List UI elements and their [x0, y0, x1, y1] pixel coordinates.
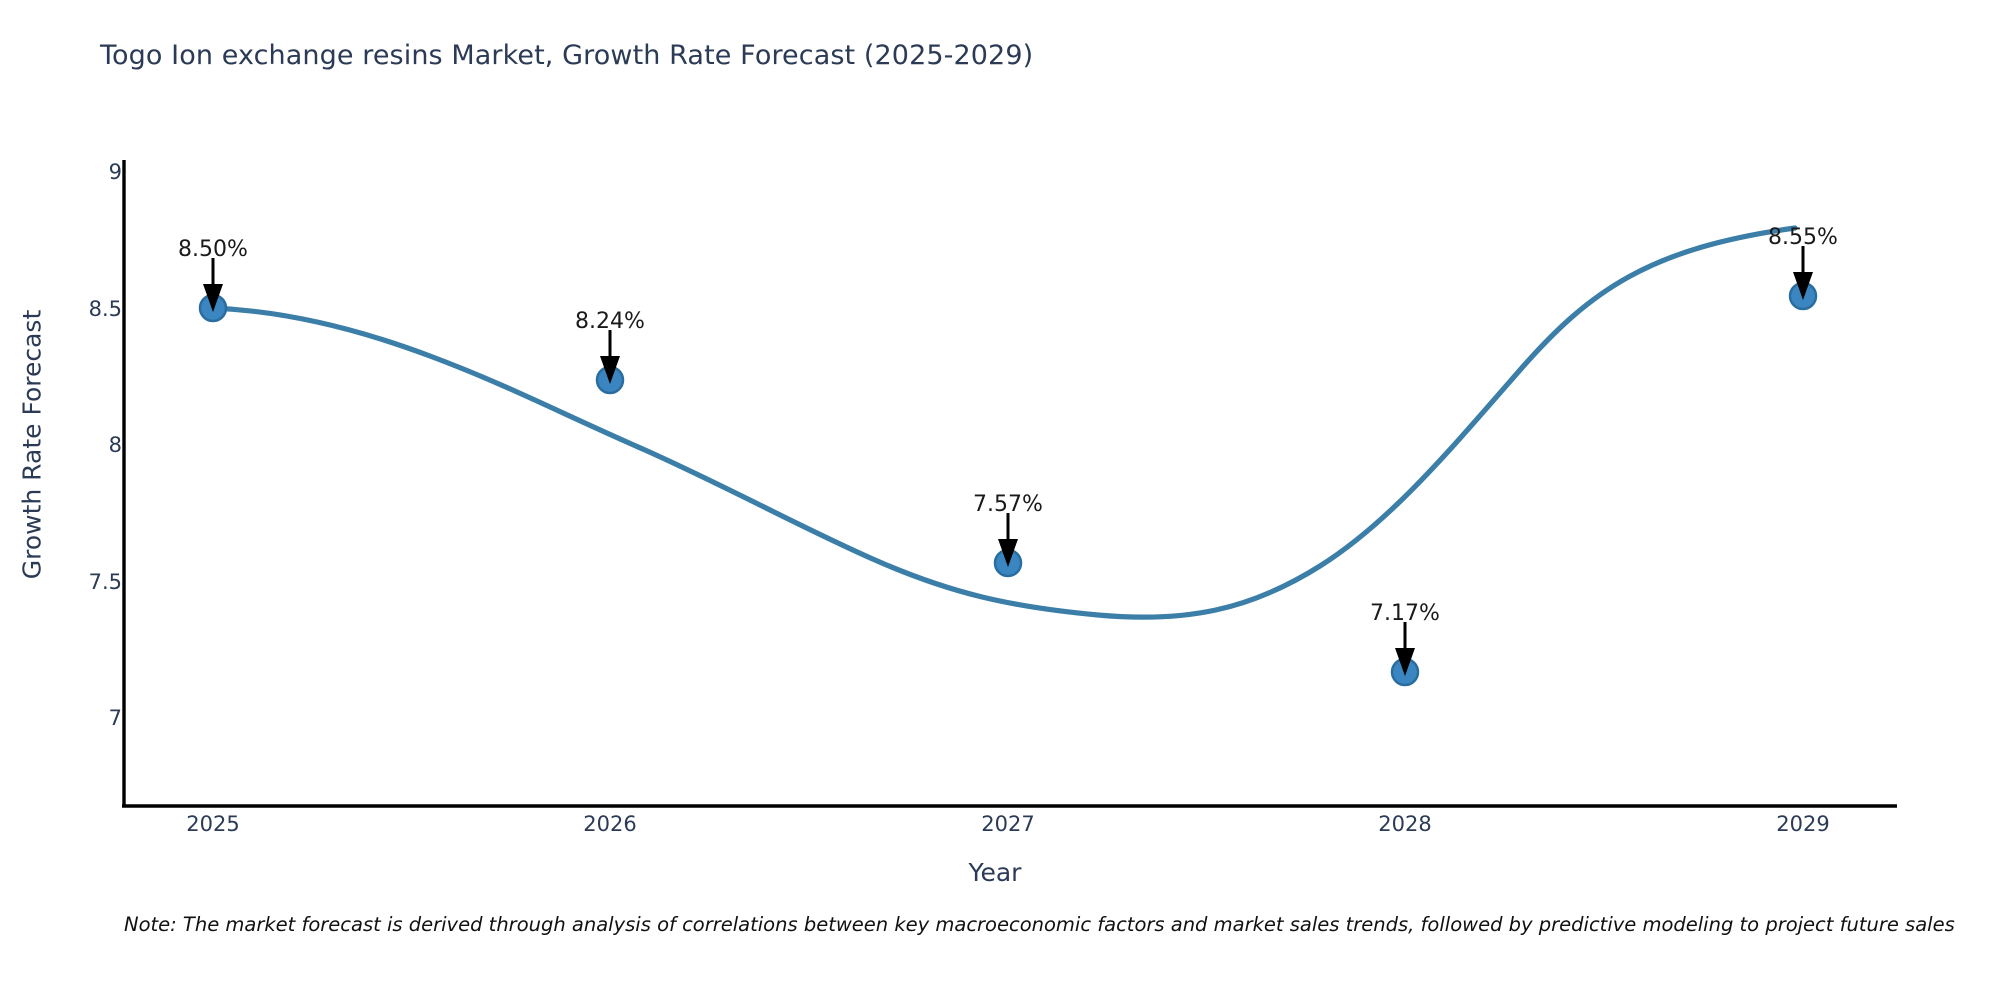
x-tick-label: 2026 [583, 812, 636, 836]
x-tick-label: 2025 [186, 812, 239, 836]
x-axis-title: Year [969, 858, 1022, 887]
data-point-label: 8.24% [575, 309, 645, 334]
data-point-label: 7.17% [1370, 601, 1440, 626]
x-tick-label: 2029 [1776, 812, 1829, 836]
data-point-label: 8.50% [178, 237, 248, 262]
x-tick-label: 2028 [1378, 812, 1431, 836]
data-point-label: 7.57% [973, 492, 1043, 517]
x-tick-label: 2027 [981, 812, 1034, 836]
footer-note: Note: The market forecast is derived thr… [124, 913, 1955, 936]
x-axis-title-wrapper: Year [0, 858, 2000, 887]
data-point-label: 8.55% [1768, 225, 1838, 250]
chart-figure: Togo Ion exchange resins Market, Growth … [0, 0, 2000, 1000]
